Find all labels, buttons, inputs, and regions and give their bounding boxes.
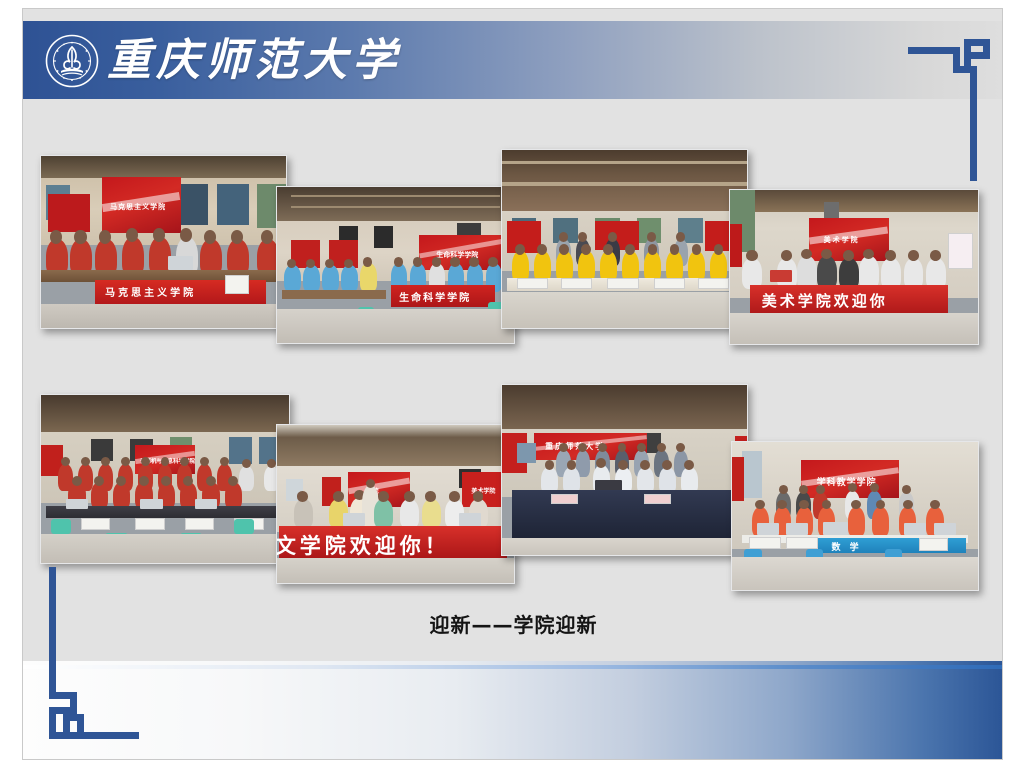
corner-ornament-top-right: [908, 31, 1000, 181]
corner-ornament-bottom-left: [33, 567, 139, 747]
slide-caption: 迎新——学院迎新: [23, 609, 1003, 638]
footer-divider-line: [23, 665, 1003, 669]
gallery-photo-fine-arts-academy[interactable]: 美术学院 美术学院欢迎你: [729, 189, 979, 345]
gallery-photo-marxism-school[interactable]: 马克思主义学院 马克思主义学院: [40, 155, 287, 329]
slide-header-band: 重庆师范大学: [23, 21, 1003, 99]
gallery-photo-life-sciences-school[interactable]: 生命科学学院: [276, 186, 515, 344]
gallery-photo-computer-information-science[interactable]: 计算机与信息科学学院: [40, 394, 290, 564]
university-name-title: 重庆师范大学: [107, 29, 401, 93]
gallery-photo-mathematics-school[interactable]: 学科教学学院: [731, 441, 979, 591]
gallery-photo-blue-draped-tables[interactable]: 重庆师范大学: [501, 384, 748, 556]
university-seal-logo: [45, 34, 99, 88]
presentation-slide: 重庆师范大学 马克: [22, 8, 1003, 760]
slide-footer-band: [23, 661, 1003, 759]
gallery-photo-yellow-shirt-school[interactable]: [501, 149, 748, 329]
gallery-photo-college-of-literature[interactable]: 学院 美术学院 文: [276, 424, 515, 584]
